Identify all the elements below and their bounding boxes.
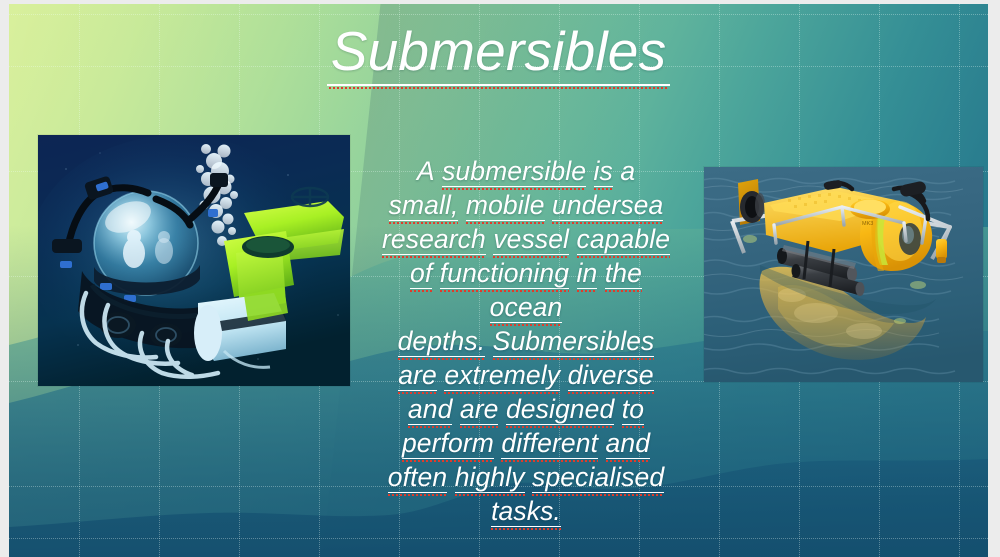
yellow-submersible-image[interactable]: MK3 <box>704 167 983 382</box>
spellchecked-word: submersible <box>442 156 586 187</box>
spellchecked-word: research <box>382 224 486 255</box>
spellchecked-word: perform <box>402 428 494 459</box>
spellchecked-word: functioning <box>440 258 569 289</box>
spellchecked-word: tasks. <box>491 496 561 527</box>
spellchecked-word: undersea <box>552 190 663 221</box>
body-word: a <box>620 156 635 186</box>
svg-text:MK3: MK3 <box>862 221 873 227</box>
spellchecked-word: extremely <box>444 360 560 391</box>
spellchecked-word: often <box>388 462 447 493</box>
spellchecked-word: mobile <box>466 190 545 221</box>
spellchecked-word: depths. <box>398 326 486 357</box>
spellchecked-word: small, <box>389 190 459 221</box>
body-word: A <box>417 156 435 186</box>
spellchecked-word: designed <box>506 394 614 425</box>
spellchecked-word: to <box>622 394 644 425</box>
spellchecked-word: are <box>398 360 437 391</box>
submersible-dome-image[interactable] <box>38 135 350 386</box>
spellchecked-word: highly <box>455 462 525 493</box>
spellchecked-word: capable <box>577 224 671 255</box>
spellchecked-word: are <box>460 394 499 425</box>
spellchecked-word: diverse <box>568 360 654 391</box>
spellchecked-word: and <box>408 394 453 425</box>
spellchecked-word: vessel <box>493 224 569 255</box>
spellchecked-word: ocean <box>490 292 563 323</box>
spellchecked-word: Submersibles <box>493 326 655 357</box>
spellchecked-word: in <box>577 258 598 289</box>
body-paragraph: A submersible is asmall, mobile undersea… <box>361 156 691 530</box>
spellchecked-word: and <box>606 428 651 459</box>
spellchecked-word: different <box>501 428 598 459</box>
page-title: Submersibles <box>327 20 671 86</box>
spellchecked-word: the <box>605 258 642 289</box>
slide-title: Submersibles <box>9 20 988 86</box>
slide-canvas: Submersibles <box>0 0 1000 557</box>
body-text-box[interactable]: A submersible is asmall, mobile undersea… <box>361 156 691 530</box>
spellchecked-word: specialised <box>532 462 664 493</box>
spellchecked-word: of <box>410 258 432 289</box>
presentation-slide: Submersibles <box>9 4 988 557</box>
spellchecked-word: is <box>594 156 613 187</box>
